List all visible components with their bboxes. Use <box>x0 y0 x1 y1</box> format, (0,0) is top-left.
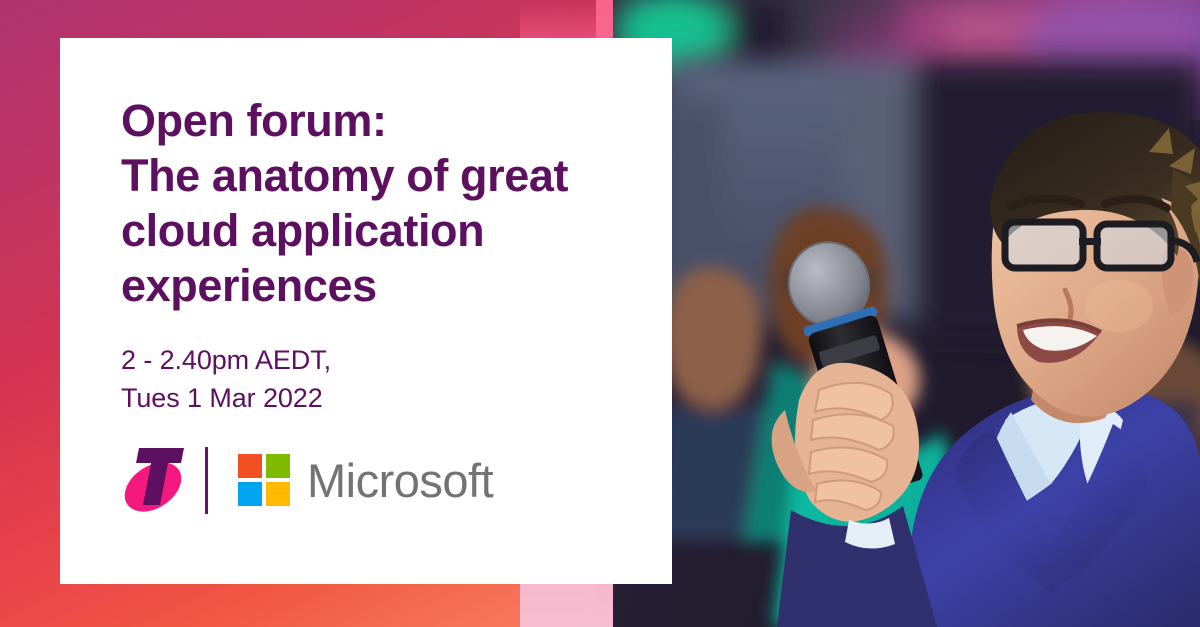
logo-lockup: Microsoft <box>121 438 493 522</box>
promo-banner: Open forum: The anatomy of great cloud a… <box>0 0 1200 627</box>
event-datetime: 2 - 2.40pm AEDT, Tues 1 Mar 2022 <box>121 341 644 417</box>
content-card: Open forum: The anatomy of great cloud a… <box>60 38 672 584</box>
event-time: 2 - 2.40pm AEDT, <box>121 341 644 379</box>
event-date: Tues 1 Mar 2022 <box>121 379 644 417</box>
microsoft-square-bottom-right <box>266 482 290 506</box>
audience-member-with-microphone-photo <box>613 0 1200 627</box>
headline-line-1: Open forum: <box>121 93 644 148</box>
microsoft-wordmark: Microsoft <box>307 457 493 504</box>
microsoft-square-bottom-left <box>238 482 262 506</box>
microsoft-logo: Microsoft <box>238 454 493 506</box>
page-title: Open forum: The anatomy of great cloud a… <box>121 93 644 313</box>
headline-line-4: experiences <box>121 258 644 313</box>
headline-line-2: The anatomy of great <box>121 148 644 203</box>
microsoft-square-top-right <box>266 454 290 478</box>
headline-line-3: cloud application <box>121 203 644 258</box>
microsoft-square-top-left <box>238 454 262 478</box>
logo-divider <box>205 447 208 514</box>
telstra-logo <box>121 438 187 522</box>
microsoft-squares <box>238 454 290 506</box>
